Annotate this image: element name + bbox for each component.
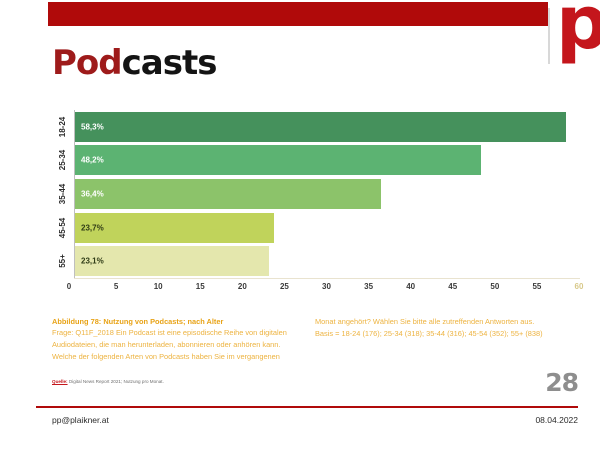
footnote-left-line-0: Frage: Q11F_2018 Ein Podcast ist eine ep… [52,327,302,339]
page-title: Podcasts [52,46,216,80]
y-axis-category-label: 55+ [52,244,74,278]
x-axis-tick-label: 55 [532,282,541,291]
footnote-right-line-1: Basis = 18-24 (176); 25-34 (318); 35-44 … [315,328,585,340]
chart-bar-row: 48,2% [75,145,580,175]
chart-plot-area: 58,3%48,2%36,4%23,7%23,1% [74,110,580,278]
footnote-left-column: Abbildung 78: Nutzung von Podcasts; nach… [52,316,302,363]
x-axis-tick-label: 25 [280,282,289,291]
chart-bar-value-label: 48,2% [81,156,104,165]
x-axis-tick-label: 60 [575,282,584,291]
x-axis-tick-label: 40 [406,282,415,291]
chart-bar-value-label: 36,4% [81,190,104,199]
chart-bar[interactable]: 58,3% [75,112,566,142]
chart-bar-row: 23,7% [75,213,580,243]
footer-divider [36,406,578,408]
chart-bar-value-label: 23,1% [81,257,104,266]
chart-bar-row: 23,1% [75,246,580,276]
x-axis-tick-label: 35 [364,282,373,291]
footnote-right-line-0: Monat angehört? Wählen Sie bitte alle zu… [315,316,585,328]
chart-y-axis-labels: 18-2425-3435-4445-5455+ [52,110,74,278]
source-text: Digital News Report 2021; Nutzung pro Mo… [69,379,164,384]
chart-bar[interactable]: 48,2% [75,145,481,175]
logo-letter: p [556,2,600,60]
chart-bar[interactable]: 36,4% [75,179,381,209]
footer-contact: pp@plaikner.at [52,415,109,425]
chart-bar-value-label: 23,7% [81,223,104,232]
chart-bar-row: 36,4% [75,179,580,209]
footnote-right-column: Monat angehört? Wählen Sie bitte alle zu… [315,316,585,340]
x-axis-line [74,278,580,279]
source-label: Quelle: [52,379,68,384]
y-axis-category-label: 35-44 [52,177,74,211]
y-axis-category-label: 18-24 [52,110,74,144]
page-number: 28 [545,368,578,397]
logo-divider [548,8,550,64]
figure-caption: Abbildung 78: Nutzung von Podcasts; nach… [52,316,302,327]
top-red-banner [48,2,548,26]
footnote-left-line-1: Audiodateien, die man herunterladen, abo… [52,339,302,351]
x-axis-tick-label: 20 [238,282,247,291]
x-axis-tick-label: 10 [154,282,163,291]
x-axis-tick-label: 0 [67,282,71,291]
footer-date: 08.04.2022 [535,415,578,425]
chart-bar-value-label: 58,3% [81,122,104,131]
page-title-red-part: Pod [52,43,122,83]
y-axis-category-label: 25-34 [52,143,74,177]
chart-bar[interactable]: 23,1% [75,246,269,276]
bar-chart: 18-2425-3435-4445-5455+ 58,3%48,2%36,4%2… [52,110,580,298]
chart-bar[interactable]: 23,7% [75,213,274,243]
x-axis-tick-label: 50 [490,282,499,291]
footnote-left-line-2: Welche der folgenden Arten von Podcasts … [52,351,302,363]
y-axis-category-label: 45-54 [52,211,74,245]
page-title-black-part: casts [122,43,217,83]
brand-logo: p [548,2,600,64]
chart-bar-row: 58,3% [75,112,580,142]
x-axis-tick-label: 30 [322,282,331,291]
source-note: Quelle: Digital News Report 2021; Nutzun… [52,379,164,385]
x-axis-tick-label: 5 [114,282,118,291]
x-axis-tick-label: 15 [196,282,205,291]
chart-x-axis: 051015202530354045505560 [74,278,580,298]
x-axis-tick-label: 45 [448,282,457,291]
